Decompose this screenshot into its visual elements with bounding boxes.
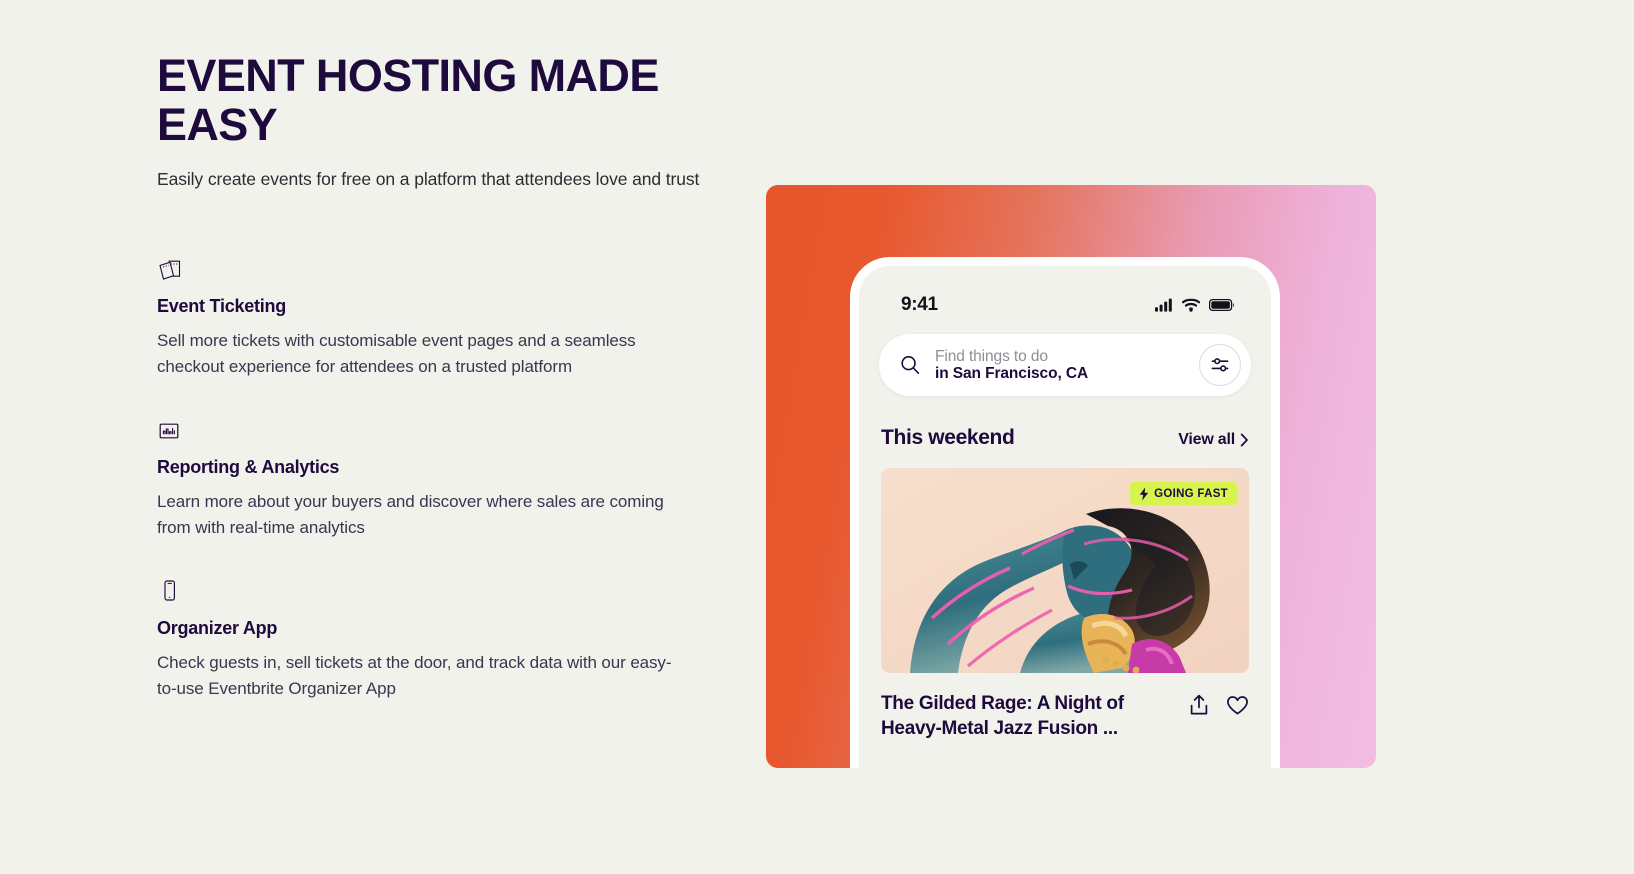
event-title: The Gilded Rage: A Night of Heavy-Metal … [881,691,1124,741]
feature-title: Organizer App [157,618,697,639]
view-all-link[interactable]: View all [1178,431,1249,449]
lightning-bolt-icon [1139,487,1149,501]
wifi-icon [1182,298,1201,312]
feature-description: Sell more tickets with customisable even… [157,328,672,379]
section-header: This weekend View all [859,396,1271,450]
chevron-right-icon [1240,433,1249,447]
landing-page: EVENT HOSTING MADE EASY Easily create ev… [0,0,1634,874]
share-button[interactable] [1188,694,1210,716]
feature-description: Check guests in, sell tickets at the doo… [157,650,672,701]
filter-sliders-icon [1210,355,1230,375]
status-bar-time: 9:41 [901,294,938,316]
battery-icon [1209,298,1235,312]
page-title: EVENT HOSTING MADE EASY [157,52,757,149]
status-badge-label: GOING FAST [1154,488,1228,500]
bar-chart-icon [157,413,697,443]
feature-item-event-ticketing: Event Ticketing Sell more tickets with c… [157,252,697,379]
event-title-line2: Heavy-Metal Jazz Fusion ... [881,718,1118,739]
mobile-phone-icon [157,574,697,604]
view-all-label: View all [1178,431,1235,449]
search-location-value[interactable]: in San Francisco, CA [935,365,1199,382]
feature-title: Event Ticketing [157,296,697,317]
app-promo-card: 9:41 [766,185,1376,768]
hero-text-block: EVENT HOSTING MADE EASY Easily create ev… [157,52,757,193]
heart-icon [1226,695,1249,716]
cellular-signal-icon [1155,298,1174,312]
tickets-icon [157,252,697,282]
search-bar[interactable]: Find things to do in San Francisco, CA [879,334,1251,396]
feature-description: Learn more about your buyers and discove… [157,489,672,540]
page-subtitle: Easily create events for free on a platf… [157,167,757,192]
search-icon [899,354,921,376]
share-icon [1188,694,1210,716]
event-card[interactable]: GOING FAST The Gilded Rage: A Night of H… [859,450,1271,741]
event-image: GOING FAST [881,468,1249,673]
feature-title: Reporting & Analytics [157,457,697,478]
filter-button[interactable] [1199,344,1241,386]
status-badge: GOING FAST [1130,482,1237,505]
feature-item-organizer-app: Organizer App Check guests in, sell tick… [157,574,697,701]
section-title: This weekend [881,426,1015,450]
feature-list: Event Ticketing Sell more tickets with c… [157,252,697,701]
search-input-placeholder[interactable]: Find things to do [935,348,1199,365]
phone-status-bar: 9:41 [859,266,1271,328]
event-title-line1: The Gilded Rage: A Night of [881,693,1124,714]
favorite-button[interactable] [1226,695,1249,716]
phone-mockup: 9:41 [850,257,1280,768]
feature-item-reporting-analytics: Reporting & Analytics Learn more about y… [157,413,697,540]
